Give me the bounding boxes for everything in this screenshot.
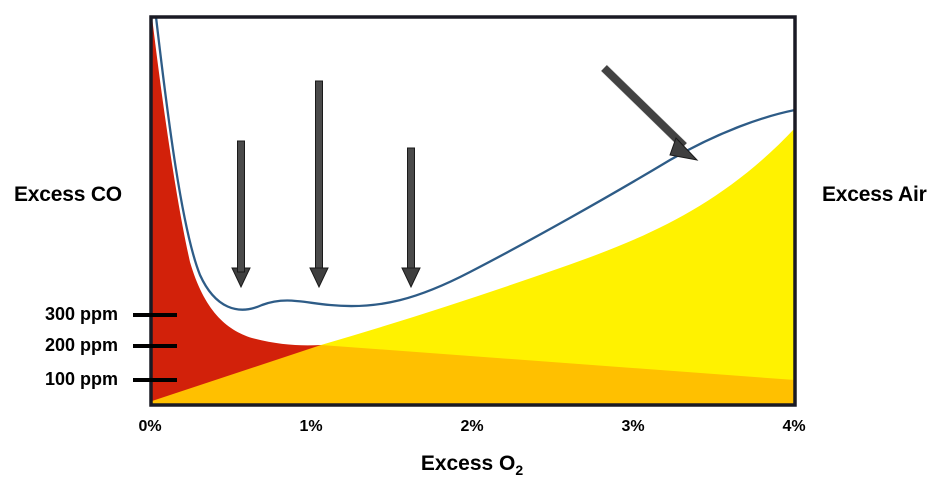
plot-area [0, 0, 944, 488]
chart-canvas: Excess CO Excess Air Excess O2 300 ppm 2… [0, 0, 944, 488]
